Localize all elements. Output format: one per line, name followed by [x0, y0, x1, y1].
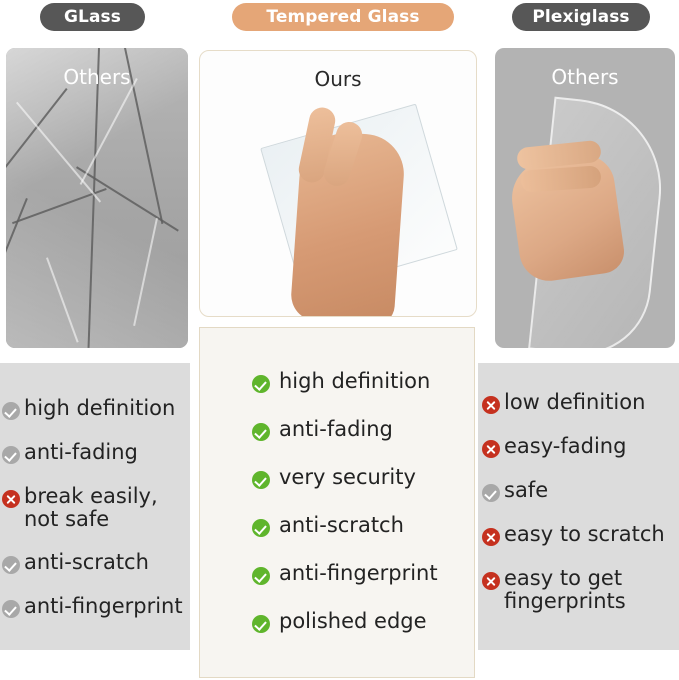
header-pill-tempered-glass: Tempered Glass [232, 3, 454, 31]
header-pill-glass: GLass [40, 3, 145, 31]
check-circle-gray-icon [2, 600, 20, 618]
check-circle-gray-icon [2, 556, 20, 574]
check-circle-icon [252, 567, 270, 585]
feature-item-label: break easily, not safe [24, 485, 197, 530]
feature-list-plexiglass: low definitioneasy-fadingsafeeasy to scr… [478, 363, 679, 650]
feature-item: high definition [2, 397, 197, 420]
feature-item-label: anti-scratch [279, 514, 404, 537]
header-pill-tempered-glass-label: Tempered Glass [266, 7, 419, 27]
feature-item: polished edge [252, 610, 482, 633]
feature-item-label: anti-fading [279, 418, 393, 441]
feature-list-tempered-glass-items: high definitionanti-fadingvery securitya… [252, 370, 482, 658]
check-circle-icon [252, 423, 270, 441]
feature-item-label: easy-fading [504, 435, 626, 458]
header-pill-plexiglass-label: Plexiglass [532, 7, 629, 27]
feature-item: anti-fading [252, 418, 482, 441]
check-circle-gray-icon [2, 446, 20, 464]
feature-item: very security [252, 466, 482, 489]
feature-item-label: anti-fingerprint [279, 562, 438, 585]
check-circle-gray-icon [2, 402, 20, 420]
cross-circle-icon [482, 528, 500, 546]
photo-caption-middle: Ours [200, 67, 476, 91]
feature-item: safe [482, 479, 679, 502]
feature-item-label: low definition [504, 391, 645, 414]
feature-item: easy to get fingerprints [482, 567, 679, 612]
header-pill-glass-label: GLass [64, 7, 121, 27]
check-circle-gray-icon [482, 484, 500, 502]
check-circle-icon [252, 519, 270, 537]
cross-circle-icon [2, 490, 20, 508]
feature-item: high definition [252, 370, 482, 393]
plexiglass-image: Others [495, 48, 675, 348]
feature-list-plexiglass-items: low definitioneasy-fadingsafeeasy to scr… [482, 391, 679, 633]
check-circle-icon [252, 471, 270, 489]
feature-list-tempered-glass: high definitionanti-fadingvery securitya… [199, 327, 475, 678]
feature-item-label: anti-fingerprint [24, 595, 183, 618]
feature-item: anti-fading [2, 441, 197, 464]
photo-caption-left: Others [6, 65, 188, 89]
check-circle-icon [252, 375, 270, 393]
check-circle-icon [252, 615, 270, 633]
photo-caption-right: Others [495, 65, 675, 89]
feature-item-label: polished edge [279, 610, 427, 633]
tempered-glass-image: Ours [199, 50, 477, 317]
cross-circle-icon [482, 440, 500, 458]
feature-item: easy-fading [482, 435, 679, 458]
feature-item: easy to scratch [482, 523, 679, 546]
cross-circle-icon [482, 572, 500, 590]
feature-list-glass-items: high definitionanti-fadingbreak easily, … [2, 397, 197, 639]
feature-item-label: high definition [279, 370, 430, 393]
feature-item-label: anti-fading [24, 441, 138, 464]
feature-item-label: easy to get fingerprints [504, 567, 679, 612]
feature-item: anti-scratch [2, 551, 197, 574]
feature-item: anti-scratch [252, 514, 482, 537]
feature-item: anti-fingerprint [252, 562, 482, 585]
feature-item: break easily, not safe [2, 485, 197, 530]
feature-item-label: very security [279, 466, 416, 489]
feature-item-label: anti-scratch [24, 551, 149, 574]
feature-item-label: easy to scratch [504, 523, 665, 546]
cross-circle-icon [482, 396, 500, 414]
cracked-glass-image: Others [6, 48, 188, 348]
header-pill-plexiglass: Plexiglass [512, 3, 650, 31]
feature-list-glass: high definitionanti-fadingbreak easily, … [0, 363, 190, 650]
feature-item-label: safe [504, 479, 548, 502]
feature-item: anti-fingerprint [2, 595, 197, 618]
feature-item-label: high definition [24, 397, 175, 420]
feature-item: low definition [482, 391, 679, 414]
